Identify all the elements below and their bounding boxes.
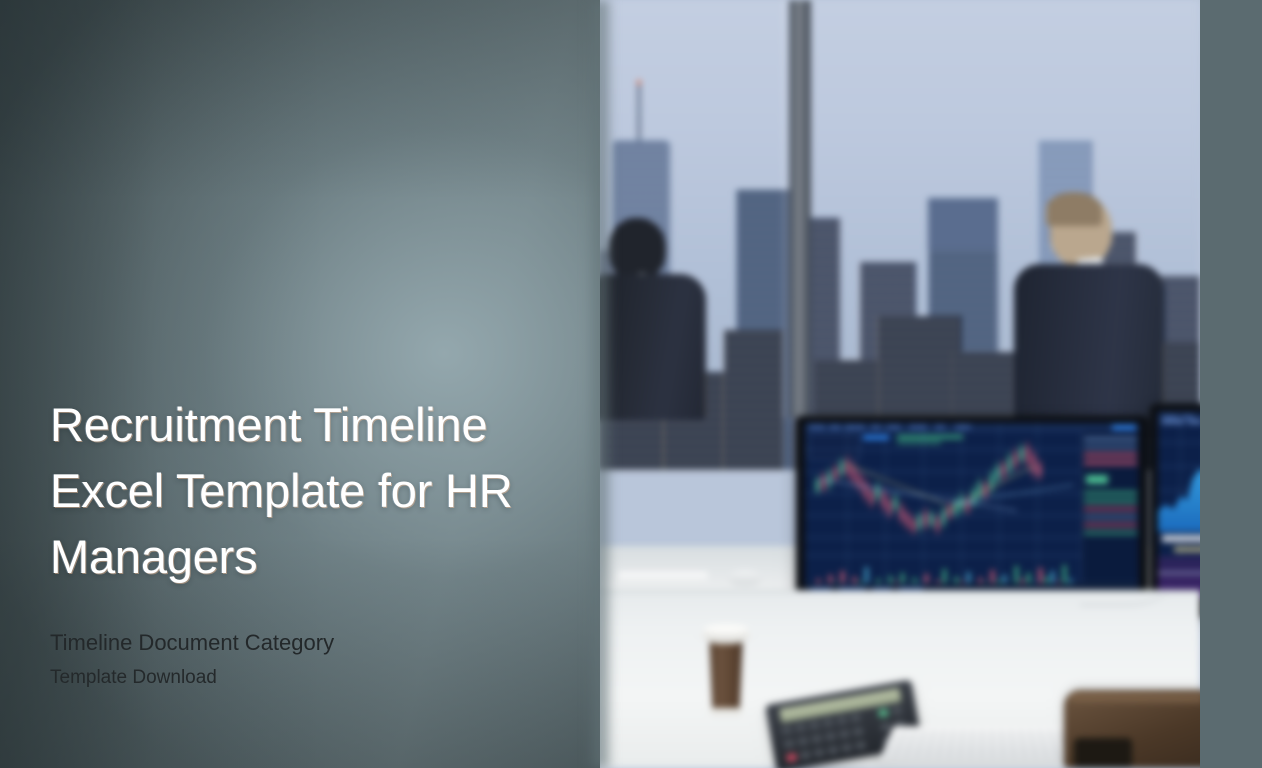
terminal-green-label-2: [897, 441, 941, 444]
person-left-torso: [598, 274, 706, 420]
monitor2-toolbar: [1158, 412, 1200, 424]
businessman-right: [1006, 196, 1166, 436]
building-mid-4-cap: [928, 198, 998, 250]
businessman-left: [598, 218, 718, 418]
chair-shadow: [1074, 738, 1132, 768]
right-color-strip: [1200, 0, 1262, 768]
terminal-info-panel: [808, 434, 860, 460]
monitor2-divider-1: [1162, 535, 1200, 542]
tower-spire: [638, 85, 640, 145]
terminal-action-button[interactable]: [1112, 425, 1136, 430]
monitor2-area-chart: [1158, 456, 1200, 532]
ma-line-3: [945, 466, 1035, 512]
order-book-green-cell: [1086, 475, 1108, 484]
monitor2-label: [1174, 547, 1200, 552]
document-category: Timeline Document Category: [50, 628, 520, 658]
person-left-head: [608, 218, 666, 280]
papers: [618, 572, 708, 582]
building-near-3: [724, 330, 784, 470]
cup-base: [710, 708, 742, 716]
window-frame-highlight: [783, 0, 788, 418]
cup-body: [706, 640, 746, 712]
slide-canvas: Recruitment Timeline Excel Template for …: [0, 0, 1262, 768]
terminal-toolbar: [805, 423, 1139, 431]
coffee-cup: [702, 618, 750, 720]
page-title: Recruitment Timeline Excel Template for …: [50, 392, 520, 590]
photo-blur-layer: [598, 0, 1200, 768]
title-panel: Recruitment Timeline Excel Template for …: [0, 0, 600, 768]
subtitle-block: Timeline Document Category Template Down…: [50, 628, 520, 691]
hero-photo: [598, 0, 1200, 768]
chair-lip: [1070, 694, 1200, 704]
title-block: Recruitment Timeline Excel Template for …: [50, 392, 520, 691]
panel-soft-edge: [586, 0, 614, 768]
office-chair: [1064, 690, 1200, 768]
window-mullion: [789, 0, 811, 418]
mouse: [728, 570, 762, 586]
person-right-torso: [1014, 264, 1164, 440]
cup-rim: [704, 624, 748, 634]
terminal-green-label: [897, 435, 963, 439]
person-right-hair: [1046, 192, 1102, 226]
monitor-cable: [1080, 566, 1170, 606]
template-download-label: Template Download: [50, 665, 520, 691]
